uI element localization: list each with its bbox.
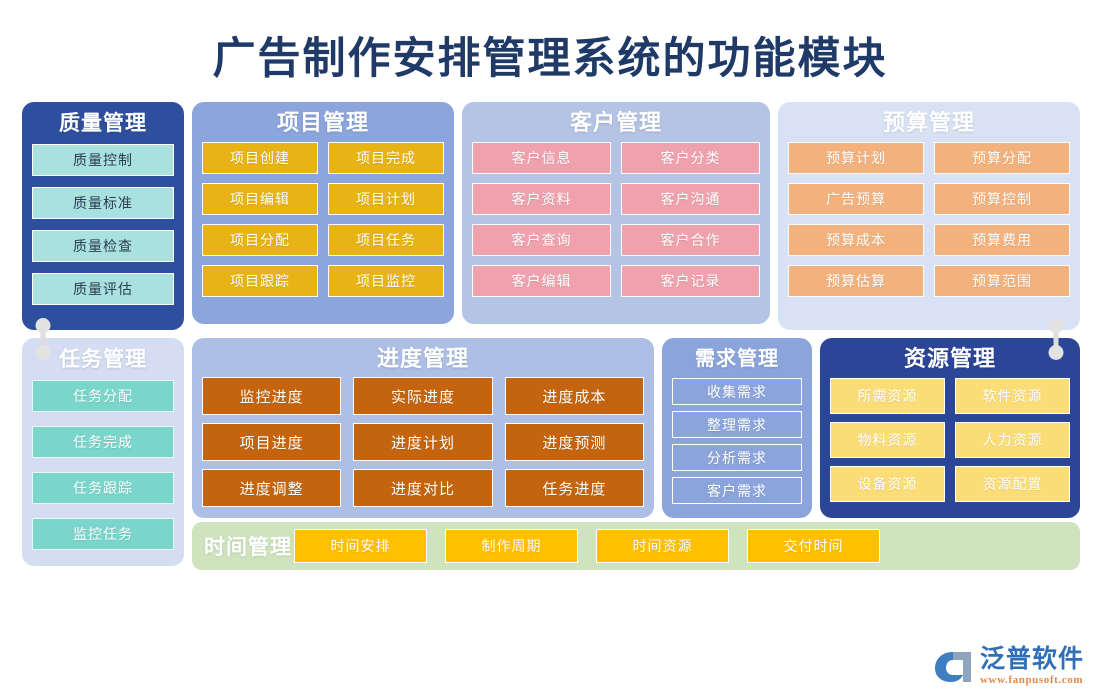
module-title-budget: 预算管理 <box>788 110 1070 136</box>
module-item[interactable]: 进度成本 <box>505 377 644 415</box>
module-title-time: 时间管理 <box>204 531 292 561</box>
page-title: 广告制作安排管理系统的功能模块 <box>0 24 1100 86</box>
module-item[interactable]: 质量标准 <box>32 187 174 219</box>
brand-logo: 泛普软件 www.fanpusoft.com <box>933 647 1084 686</box>
connector-knob-bottom <box>36 345 51 360</box>
module-item[interactable]: 客户记录 <box>621 265 760 297</box>
module-items-budget: 预算计划 预算分配 广告预算 预算控制 预算成本 预算费用 预算估算 预算范围 <box>788 142 1070 297</box>
module-item[interactable]: 时间资源 <box>596 529 729 563</box>
module-item[interactable]: 进度调整 <box>202 469 341 507</box>
module-item[interactable]: 项目编辑 <box>202 183 318 215</box>
logo-url: www.fanpusoft.com <box>980 675 1084 686</box>
module-card-customer[interactable]: 客户管理 客户信息 客户分类 客户资料 客户沟通 客户查询 客户合作 客户编辑 … <box>462 102 770 324</box>
module-item[interactable]: 客户编辑 <box>472 265 611 297</box>
module-item[interactable]: 预算成本 <box>788 224 924 256</box>
module-item[interactable]: 项目创建 <box>202 142 318 174</box>
module-item[interactable]: 交付时间 <box>747 529 880 563</box>
module-card-project[interactable]: 项目管理 项目创建 项目完成 项目编辑 项目计划 项目分配 项目任务 项目跟踪 … <box>192 102 454 324</box>
module-title-progress: 进度管理 <box>202 346 644 372</box>
module-item[interactable]: 客户资料 <box>472 183 611 215</box>
module-item[interactable]: 进度对比 <box>353 469 492 507</box>
module-item[interactable]: 项目完成 <box>328 142 444 174</box>
module-item[interactable]: 质量评估 <box>32 273 174 305</box>
module-card-budget[interactable]: 预算管理 预算计划 预算分配 广告预算 预算控制 预算成本 预算费用 预算估算 … <box>778 102 1080 330</box>
module-card-resource[interactable]: 资源管理 所需资源 软件资源 物料资源 人力资源 设备资源 资源配置 <box>820 338 1080 518</box>
connector-pin-right <box>1048 318 1064 360</box>
module-item[interactable]: 进度预测 <box>505 423 644 461</box>
connector-knob-top <box>36 318 51 333</box>
module-item[interactable]: 任务分配 <box>32 380 174 412</box>
module-card-quality[interactable]: 质量管理 质量控制 质量标准 质量检查 质量评估 <box>22 102 184 330</box>
module-item[interactable]: 项目跟踪 <box>202 265 318 297</box>
module-card-progress[interactable]: 进度管理 监控进度 实际进度 进度成本 项目进度 进度计划 进度预测 进度调整 … <box>192 338 654 518</box>
module-items-quality: 质量控制 质量标准 质量检查 质量评估 <box>32 144 174 305</box>
module-item[interactable]: 整理需求 <box>672 411 802 438</box>
module-card-demand[interactable]: 需求管理 收集需求 整理需求 分析需求 客户需求 <box>662 338 812 518</box>
module-item[interactable]: 软件资源 <box>955 378 1070 414</box>
module-items-customer: 客户信息 客户分类 客户资料 客户沟通 客户查询 客户合作 客户编辑 客户记录 <box>472 142 760 297</box>
module-item[interactable]: 收集需求 <box>672 378 802 405</box>
module-item[interactable]: 预算范围 <box>934 265 1070 297</box>
module-item[interactable]: 项目计划 <box>328 183 444 215</box>
module-item[interactable]: 物料资源 <box>830 422 945 458</box>
module-title-resource: 资源管理 <box>830 346 1070 372</box>
module-items-time: 时间安排 制作周期 时间资源 交付时间 <box>294 529 1068 563</box>
module-item[interactable]: 所需资源 <box>830 378 945 414</box>
module-items-task: 任务分配 任务完成 任务跟踪 监控任务 <box>32 380 174 550</box>
module-item[interactable]: 广告预算 <box>788 183 924 215</box>
module-card-time[interactable]: 时间管理 时间安排 制作周期 时间资源 交付时间 <box>192 522 1080 570</box>
module-items-project: 项目创建 项目完成 项目编辑 项目计划 项目分配 项目任务 项目跟踪 项目监控 <box>202 142 444 297</box>
module-item[interactable]: 实际进度 <box>353 377 492 415</box>
module-item[interactable]: 预算分配 <box>934 142 1070 174</box>
module-item[interactable]: 项目任务 <box>328 224 444 256</box>
module-item[interactable]: 客户分类 <box>621 142 760 174</box>
module-item[interactable]: 制作周期 <box>445 529 578 563</box>
module-item[interactable]: 进度计划 <box>353 423 492 461</box>
module-item[interactable]: 质量检查 <box>32 230 174 262</box>
module-items-demand: 收集需求 整理需求 分析需求 客户需求 <box>672 378 802 504</box>
module-card-task[interactable]: 任务管理 任务分配 任务完成 任务跟踪 监控任务 <box>22 338 184 566</box>
module-item[interactable]: 项目进度 <box>202 423 341 461</box>
module-item[interactable]: 任务跟踪 <box>32 472 174 504</box>
module-item[interactable]: 监控任务 <box>32 518 174 550</box>
module-items-progress: 监控进度 实际进度 进度成本 项目进度 进度计划 进度预测 进度调整 进度对比 … <box>202 377 644 507</box>
fanpu-logo-icon <box>933 650 973 684</box>
module-item[interactable]: 客户信息 <box>472 142 611 174</box>
module-item[interactable]: 项目分配 <box>202 224 318 256</box>
diagram-canvas: 广告制作安排管理系统的功能模块 质量管理 质量控制 质量标准 质量检查 质量评估… <box>0 0 1100 700</box>
module-item[interactable]: 预算估算 <box>788 265 924 297</box>
module-item[interactable]: 质量控制 <box>32 144 174 176</box>
module-item[interactable]: 资源配置 <box>955 466 1070 502</box>
module-title-task: 任务管理 <box>32 346 174 372</box>
module-item[interactable]: 人力资源 <box>955 422 1070 458</box>
logo-name: 泛普软件 <box>980 647 1084 672</box>
module-title-project: 项目管理 <box>202 110 444 136</box>
module-item[interactable]: 预算控制 <box>934 183 1070 215</box>
module-item[interactable]: 预算计划 <box>788 142 924 174</box>
module-items-resource: 所需资源 软件资源 物料资源 人力资源 设备资源 资源配置 <box>830 378 1070 502</box>
module-item[interactable]: 项目监控 <box>328 265 444 297</box>
connector-knob-top <box>1049 318 1064 333</box>
module-title-customer: 客户管理 <box>472 110 760 136</box>
module-item[interactable]: 时间安排 <box>294 529 427 563</box>
logo-text-block: 泛普软件 www.fanpusoft.com <box>980 647 1084 686</box>
module-item[interactable]: 客户沟通 <box>621 183 760 215</box>
module-item[interactable]: 监控进度 <box>202 377 341 415</box>
module-title-demand: 需求管理 <box>672 346 802 372</box>
module-item[interactable]: 任务进度 <box>505 469 644 507</box>
module-item[interactable]: 分析需求 <box>672 444 802 471</box>
module-item[interactable]: 任务完成 <box>32 426 174 458</box>
connector-knob-bottom <box>1049 345 1064 360</box>
module-title-quality: 质量管理 <box>32 110 174 136</box>
module-item[interactable]: 设备资源 <box>830 466 945 502</box>
module-item[interactable]: 客户合作 <box>621 224 760 256</box>
connector-pin-left <box>35 318 51 360</box>
module-item[interactable]: 预算费用 <box>934 224 1070 256</box>
module-item[interactable]: 客户查询 <box>472 224 611 256</box>
module-item[interactable]: 客户需求 <box>672 477 802 504</box>
